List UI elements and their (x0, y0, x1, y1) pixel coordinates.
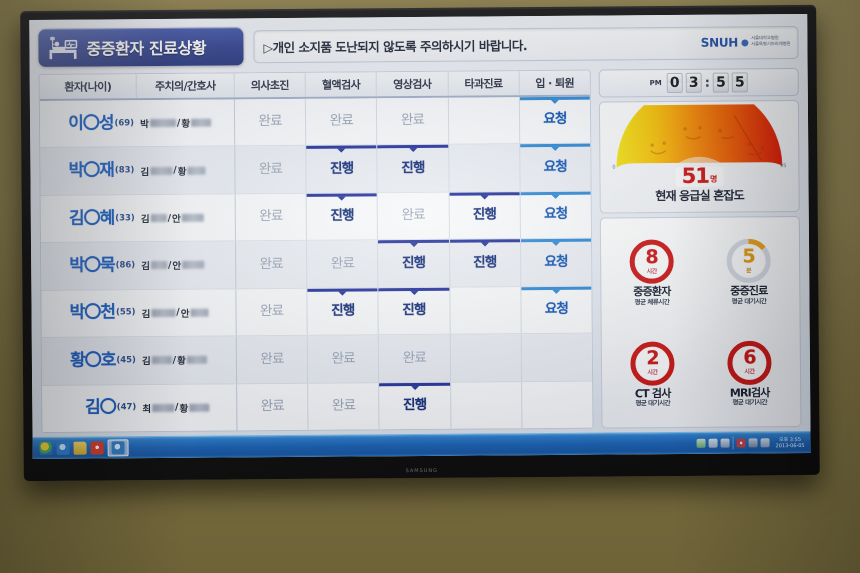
table-row: 황〇호(45)김/황완료완료완료 (42, 334, 592, 386)
nurse-name-redacted (190, 309, 208, 317)
table-row: 박〇재(83)김/황완료진행진행요청 (40, 144, 590, 196)
status-cell-imaging: 진행 (378, 240, 450, 287)
patient-age: (45) (116, 355, 136, 366)
folder-icon[interactable] (74, 442, 87, 455)
dial-unit: 시간 (647, 367, 657, 376)
nurse-name: 안 (172, 211, 181, 225)
patient-name: 박〇재 (68, 163, 113, 180)
patient-age: (69) (114, 118, 134, 129)
notice-banner: ▷개인 소지품 도난되지 않도록 주의하시기 바랍니다. SNUH 서울대학교병… (253, 26, 798, 63)
metric-dial: 2시간CT 검사평균 대기시간 (604, 322, 702, 424)
status-text: 진행 (473, 256, 496, 270)
status-marker-icon (380, 382, 450, 386)
dial-subtitle: 평균 대기시간 (732, 298, 767, 305)
status-text: 완료 (330, 115, 353, 129)
patient-age: (83) (115, 165, 135, 176)
status-text: 진행 (330, 210, 353, 224)
dial-title: MRI검사 (730, 387, 770, 399)
er-congestion-gauge: 0 95 51 명 현재 응급실 혼잡도 (599, 100, 800, 214)
dial-subtitle: 평균 대기시간 (635, 400, 670, 407)
doctor-name-redacted (152, 404, 174, 412)
staff-separator: / (177, 118, 181, 129)
dial-value: 8 (645, 249, 657, 266)
clock-colon: : (705, 75, 710, 90)
dial-value: 5 (742, 248, 754, 265)
gauge-label: 현재 응급실 혼잡도 (655, 186, 744, 204)
column-header-imaging: 영상검사 (377, 72, 448, 97)
dial-ring: 2시간 (629, 340, 676, 387)
status-cell-blood-test: 진행 (308, 288, 380, 335)
nurse-name-redacted (182, 214, 204, 222)
patient-name: 박〇천 (70, 305, 115, 322)
nurse-name-redacted (191, 119, 211, 127)
nurse-name: 황 (178, 163, 187, 177)
status-cell-consult (451, 382, 523, 429)
status-text: 완료 (260, 353, 283, 367)
status-marker-icon (520, 97, 590, 101)
dashboard-title: 중증환자 진료상황 (86, 35, 206, 60)
status-text: 완료 (260, 258, 283, 272)
status-cell-consult (450, 287, 522, 334)
staff-cell: 최/황 (139, 384, 237, 431)
clock-display: PM 0 3 : 5 5 (599, 68, 799, 98)
gauge-arc (608, 104, 791, 171)
status-cell-consult: 진행 (450, 239, 522, 286)
status-text: 완료 (258, 116, 281, 130)
status-cell-initial-exam: 완료 (236, 289, 308, 336)
status-cell-blood-test: 완료 (308, 383, 380, 430)
dial-title: 중증진료 (730, 285, 767, 297)
tv-screen: 중증환자 진료상황 ▷개인 소지품 도난되지 않도록 주의하시기 바랍니다. S… (29, 14, 810, 459)
status-cell-consult (448, 97, 520, 144)
status-cell-blood-test: 진행 (306, 146, 378, 193)
status-cell-initial-exam: 완료 (237, 383, 309, 430)
status-text: 진행 (402, 304, 425, 318)
status-text: 완료 (259, 210, 282, 224)
status-text: 요청 (543, 113, 566, 127)
status-text: 요청 (544, 161, 567, 175)
staff-cell: 김/안 (138, 242, 236, 289)
status-cell-consult: 진행 (449, 192, 521, 239)
clock-minute-tens: 5 (713, 73, 729, 93)
status-text: 완료 (261, 400, 284, 414)
status-cell-blood-test: 완료 (308, 335, 380, 382)
taskbar-quick-launch[interactable] (35, 439, 129, 457)
column-header-admit-discharge: 입 · 퇴원 (519, 71, 589, 96)
hospital-bed-icon (47, 35, 79, 61)
status-text: 진행 (473, 209, 496, 223)
dial-ring: 8시간 (628, 238, 675, 285)
staff-separator: / (168, 260, 172, 271)
patient-name: 박〇묵 (69, 257, 114, 274)
clock-hour-ones: 3 (686, 73, 702, 93)
media-icon[interactable] (91, 441, 104, 454)
status-marker-icon (449, 192, 519, 196)
status-marker-icon (520, 192, 590, 196)
doctor-name-redacted (150, 119, 176, 127)
network-icon[interactable] (696, 439, 705, 448)
internet-explorer-icon[interactable] (57, 442, 70, 455)
status-cell-consult (450, 334, 522, 381)
dashboard-body: 환자(나이) 주치의/간호사 의사초진 혈액검사 영상검사 타과진료 입 · 퇴… (39, 68, 802, 433)
status-text: 완료 (332, 399, 355, 413)
notice-text: ▷개인 소지품 도난되지 않도록 주의하시기 바랍니다. (263, 35, 527, 56)
tray-clock-date: 2013-06-05 (776, 442, 805, 448)
status-text: 완료 (331, 257, 354, 271)
nurse-name-redacted (182, 261, 204, 269)
patient-name-cell: 황〇호(45) (42, 337, 139, 384)
dial-center: 6시간 (726, 339, 773, 386)
status-marker-icon (308, 288, 378, 292)
doctor-name-redacted (151, 214, 167, 222)
shield-icon[interactable] (748, 438, 757, 447)
staff-cell: 김/안 (138, 194, 236, 241)
metric-dial: 6시간MRI검사평균 대기시간 (701, 322, 799, 424)
table-row: 김〇(47)최/황완료완료진행 (42, 381, 592, 432)
clock-hour-tens: 0 (667, 73, 683, 93)
nurse-name: 황 (179, 401, 188, 415)
status-text: 요청 (544, 256, 567, 270)
doctor-name: 김 (141, 259, 150, 273)
status-cell-imaging: 완료 (379, 335, 451, 382)
dial-value: 6 (743, 349, 755, 366)
status-marker-icon (450, 239, 520, 243)
status-cell-blood-test: 완료 (306, 98, 378, 145)
patient-name: 이〇성 (68, 115, 113, 132)
staff-separator: / (173, 165, 177, 176)
patient-name-cell: 김〇혜(33) (41, 195, 138, 242)
doctor-name: 최 (142, 401, 151, 415)
status-text: 진행 (403, 399, 426, 413)
usb-icon[interactable] (736, 438, 745, 447)
dial-unit: 분 (746, 265, 751, 274)
snuh-wordmark: SNUH (701, 35, 738, 49)
gauge-unit: 명 (710, 174, 717, 187)
tray-clock[interactable]: 오후 3:55 2013-06-05 (772, 436, 804, 448)
staff-cell: 김/안 (138, 289, 236, 336)
table-row: 이〇성(69)박/황완료완료완료요청 (40, 97, 590, 149)
patient-age: (55) (116, 308, 136, 319)
patient-name-cell: 박〇재(83) (40, 148, 137, 195)
patient-name: 김〇 (85, 400, 116, 417)
status-cell-consult (449, 145, 521, 192)
active-window-icon[interactable] (108, 439, 129, 456)
tv-brand-label: SAMSUNG (24, 465, 820, 477)
doctor-name: 김 (141, 211, 150, 225)
dial-value: 2 (646, 350, 658, 367)
status-cell-admit-discharge (522, 334, 593, 381)
table-body: 이〇성(69)박/황완료완료완료요청박〇재(83)김/황완료진행진행요청김〇혜(… (40, 97, 593, 432)
hospital-dashboard-app: 중증환자 진료상황 ▷개인 소지품 도난되지 않도록 주의하시기 바랍니다. S… (29, 14, 810, 437)
gauge-min-label: 0 (612, 164, 615, 170)
staff-cell: 김/황 (139, 337, 237, 384)
status-text: 완료 (401, 114, 424, 128)
status-text: 완료 (260, 305, 283, 319)
dial-center: 5분 (725, 237, 772, 284)
windows-taskbar[interactable]: 오후 3:55 2013-06-05 (33, 431, 811, 459)
status-text: 진행 (402, 257, 425, 271)
table-row: 박〇천(55)김/안완료진행진행요청 (41, 286, 591, 338)
status-cell-initial-exam: 완료 (235, 146, 307, 193)
status-marker-icon (521, 239, 591, 243)
status-text: 요청 (544, 208, 567, 222)
taskbar-system-tray[interactable]: 오후 3:55 2013-06-05 (696, 436, 808, 450)
status-text: 완료 (332, 352, 355, 366)
dial-center: 2시간 (629, 340, 676, 387)
patient-name: 황〇호 (70, 352, 115, 369)
patient-name-cell: 김〇(47) (42, 385, 139, 432)
gauge-value-group: 51 명 (676, 167, 724, 187)
dashboard-header: 중증환자 진료상황 ▷개인 소지품 도난되지 않도록 주의하시기 바랍니다. S… (38, 21, 798, 69)
doctor-name-redacted (151, 309, 175, 317)
patient-name-cell: 박〇천(55) (41, 290, 138, 337)
status-cell-initial-exam: 완료 (237, 336, 309, 383)
patient-age: (86) (116, 260, 136, 271)
staff-cell: 김/황 (137, 147, 235, 194)
status-text: 완료 (259, 163, 282, 177)
wall-mounted-tv: 중증환자 진료상황 ▷개인 소지품 도난되지 않도록 주의하시기 바랍니다. S… (20, 5, 820, 481)
status-marker-icon (378, 240, 448, 244)
clock-ampm: PM (650, 79, 662, 87)
tray-clock-time: 오후 3:55 (775, 436, 804, 442)
tray-separator (732, 437, 733, 450)
status-cell-admit-discharge: 요청 (520, 192, 591, 239)
dial-title: CT 검사 (635, 388, 671, 400)
dial-center: 8시간 (628, 238, 675, 285)
staff-separator: / (168, 213, 172, 224)
snuh-dot-icon (741, 39, 748, 46)
patient-status-table: 환자(나이) 주치의/간호사 의사초진 혈액검사 영상검사 타과진료 입 · 퇴… (39, 70, 594, 433)
gauge-value: 51 (682, 167, 709, 187)
nurse-name: 안 (172, 258, 181, 272)
antivirus-icon[interactable] (708, 439, 717, 448)
doctor-name-redacted (151, 261, 167, 269)
status-marker-icon (521, 286, 591, 290)
snuh-korean-name: 서울대학교병원 서울특별시보라매병원 (751, 36, 790, 48)
doctor-name: 김 (142, 353, 151, 367)
status-text: 진행 (330, 162, 353, 176)
doctor-name-redacted (152, 356, 172, 364)
room-wall: 중증환자 진료상황 ▷개인 소지품 도난되지 않도록 주의하시기 바랍니다. S… (0, 0, 860, 573)
gauge-max-label: 95 (780, 163, 786, 169)
status-text: 완료 (403, 352, 426, 366)
status-text: 진행 (401, 162, 424, 176)
column-header-consult: 타과진료 (448, 71, 519, 96)
column-header-staff: 주치의/간호사 (137, 73, 235, 98)
nurse-name-redacted (187, 356, 207, 364)
dial-ring: 5분 (725, 237, 772, 284)
patient-name-cell: 박〇묵(86) (41, 242, 138, 289)
browser-icon[interactable] (40, 442, 53, 455)
table-row: 박〇묵(86)김/안완료완료진행진행요청 (41, 239, 591, 291)
status-cell-imaging: 완료 (378, 193, 450, 240)
doctor-name: 김 (140, 164, 149, 178)
status-marker-icon (306, 146, 376, 150)
settings-icon[interactable] (760, 438, 769, 447)
doctor-name: 박 (140, 116, 149, 130)
metrics-panel: PM 0 3 : 5 5 (599, 68, 802, 429)
patient-name-cell: 이〇성(69) (40, 100, 137, 147)
dial-unit: 시간 (744, 366, 754, 375)
column-header-initial-exam: 의사초진 (235, 73, 306, 98)
doctor-name: 김 (141, 306, 150, 320)
staff-separator: / (176, 307, 180, 318)
doctor-name-redacted (150, 167, 172, 175)
status-cell-admit-discharge: 요청 (521, 286, 592, 333)
status-cell-blood-test: 진행 (307, 193, 379, 240)
status-cell-imaging: 진행 (378, 145, 450, 192)
patient-name: 김〇혜 (69, 210, 114, 227)
dial-ring: 6시간 (726, 339, 773, 386)
staff-separator: / (175, 402, 179, 413)
column-header-blood-test: 혈액검사 (306, 72, 377, 97)
nurse-name: 황 (181, 116, 190, 130)
status-cell-blood-test: 완료 (307, 241, 379, 288)
dial-unit: 시간 (647, 266, 657, 275)
status-cell-admit-discharge: 요청 (521, 239, 592, 286)
status-text: 요청 (545, 303, 568, 317)
status-text: 완료 (402, 209, 425, 223)
status-cell-initial-exam: 완료 (236, 241, 308, 288)
metric-dial: 8시간중증환자평균 체류시간 (603, 221, 701, 323)
patient-age: (33) (115, 213, 135, 224)
status-cell-imaging: 진행 (379, 287, 451, 334)
nurse-name-redacted (189, 403, 209, 411)
patient-age: (47) (117, 402, 137, 413)
snuh-logo: SNUH 서울대학교병원 서울특별시보라매병원 (701, 35, 791, 50)
status-cell-imaging: 완료 (377, 98, 449, 145)
title-plate: 중증환자 진료상황 (38, 27, 243, 67)
status-marker-icon (307, 193, 377, 197)
dial-subtitle: 평균 체류시간 (635, 299, 670, 306)
dial-subtitle: 평균 대기시간 (732, 399, 767, 406)
status-cell-initial-exam: 완료 (236, 194, 308, 241)
metric-dial: 5분중증진료평균 대기시간 (700, 220, 798, 322)
status-cell-admit-discharge: 요청 (520, 144, 591, 191)
status-cell-initial-exam: 완료 (235, 99, 307, 146)
nurse-name: 안 (181, 306, 190, 320)
status-marker-icon (378, 145, 448, 149)
status-marker-icon (379, 287, 449, 291)
clock-minute-ones: 5 (732, 72, 748, 92)
staff-cell: 박/황 (137, 99, 235, 146)
status-cell-imaging: 진행 (380, 382, 452, 429)
nurse-name-redacted (187, 166, 205, 174)
staff-separator: / (173, 355, 177, 366)
dial-title: 중증환자 (633, 286, 670, 298)
status-cell-admit-discharge: 요청 (520, 97, 591, 144)
status-marker-icon (520, 144, 590, 148)
wait-time-dials: 8시간중증환자평균 체류시간5분중증진료평균 대기시간2시간CT 검사평균 대기… (600, 216, 802, 429)
status-cell-admit-discharge (522, 381, 593, 428)
snuh-kr-line2: 서울특별시보라매병원 (751, 42, 790, 48)
column-header-patient: 환자(나이) (40, 74, 137, 99)
table-row: 김〇혜(33)김/안완료진행완료진행요청 (41, 192, 591, 244)
volume-icon[interactable] (720, 439, 729, 448)
status-text: 진행 (331, 305, 354, 319)
nurse-name: 황 (177, 353, 186, 367)
